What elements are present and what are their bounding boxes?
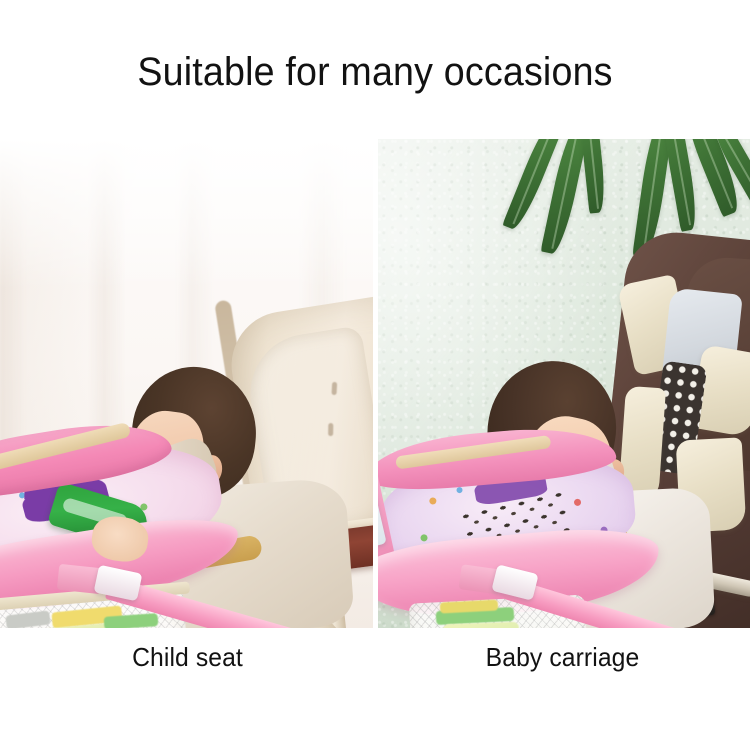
tray-print-dot — [573, 499, 581, 507]
tray-print-dot — [420, 534, 428, 542]
upholstery-tuft — [332, 382, 338, 395]
caption-baby-carriage: Baby carriage — [384, 640, 740, 674]
tray-print-dot — [456, 487, 463, 494]
curtain-highlight — [0, 139, 373, 289]
photo-baby-carriage — [378, 139, 750, 628]
tray-print-dot — [429, 497, 437, 505]
caption-row: Child seat Baby carriage — [0, 640, 750, 674]
page-title: Suitable for many occasions — [23, 48, 728, 96]
net-item-green — [104, 613, 159, 628]
upholstery-tuft — [328, 423, 333, 436]
product-infographic-page: Suitable for many occasions — [0, 0, 750, 750]
caption-child-seat: Child seat — [9, 640, 365, 674]
photo-child-seat — [0, 139, 373, 628]
photo-comparison-band — [0, 139, 750, 628]
